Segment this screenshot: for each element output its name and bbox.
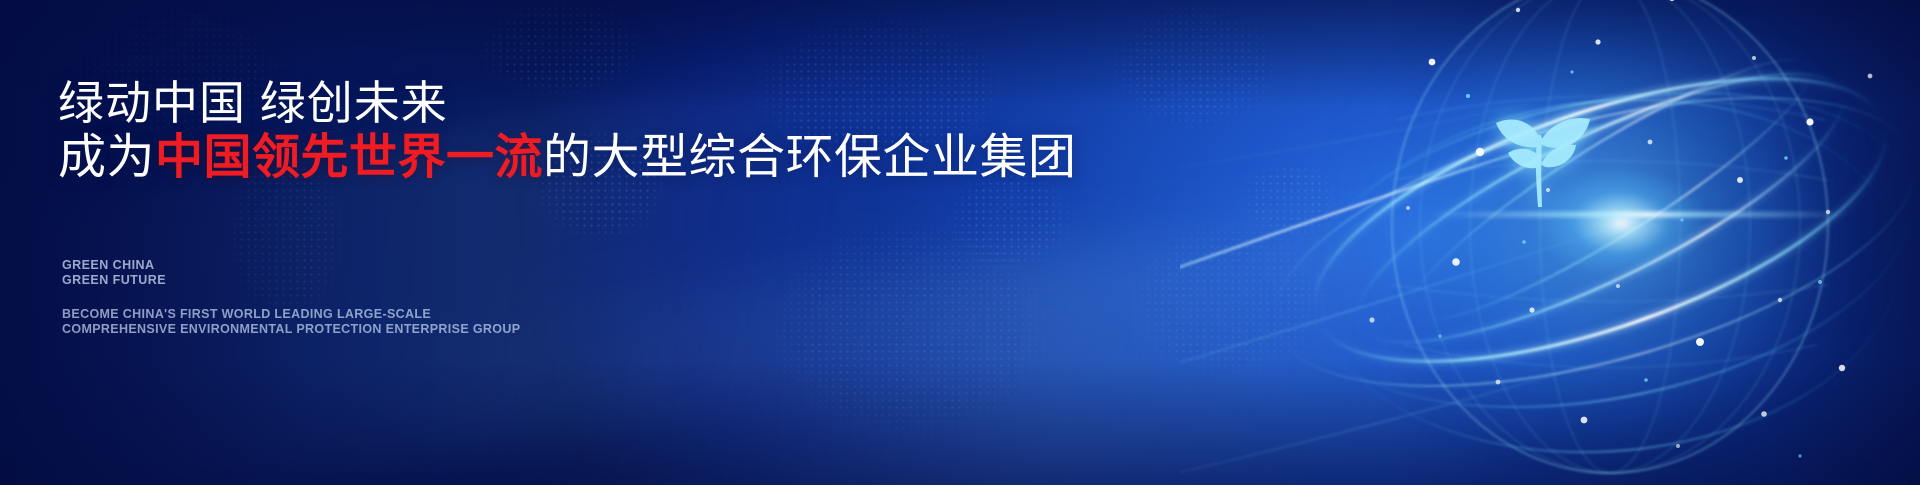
headline-line2-suffix: 的大型综合环保企业集团: [543, 131, 1077, 184]
headline-line2-prefix: 成为: [58, 131, 155, 184]
banner-text-content: 绿动中国 绿创未来 成为中国领先世界一流的大型综合环保企业集团 GREEN CH…: [58, 0, 1058, 485]
headline-line2: 成为中国领先世界一流的大型综合环保企业集团: [58, 134, 1077, 182]
tagline-english-line2: COMPREHENSIVE ENVIRONMENTAL PROTECTION E…: [62, 322, 520, 337]
light-particles-icon: [1180, 0, 1920, 485]
subtitle-english-line1: GREEN CHINA: [62, 258, 166, 273]
hero-banner: 绿动中国 绿创未来 成为中国领先世界一流的大型综合环保企业集团 GREEN CH…: [0, 0, 1920, 485]
tagline-english-line1: BECOME CHINA'S FIRST WORLD LEADING LARGE…: [62, 307, 520, 322]
subtitle-english-line2: GREEN FUTURE: [62, 273, 166, 288]
headline-line2-highlight: 中国领先世界一流: [155, 131, 543, 184]
subtitle-english: GREEN CHINA GREEN FUTURE: [62, 258, 166, 287]
tagline-english: BECOME CHINA'S FIRST WORLD LEADING LARGE…: [62, 307, 520, 336]
headline-line1: 绿动中国 绿创未来: [58, 80, 448, 126]
globe-graphic: [1180, 0, 1920, 485]
